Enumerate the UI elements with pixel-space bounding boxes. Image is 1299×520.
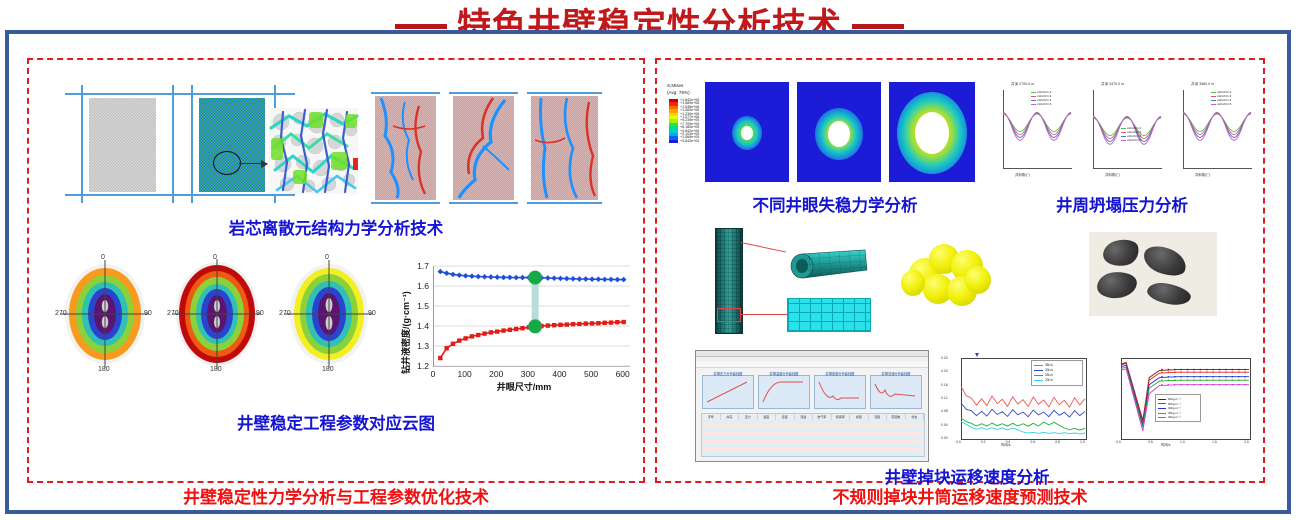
polar-contour-1: 0 90 180 270 [57, 256, 153, 372]
window-menu-bar[interactable] [696, 357, 928, 361]
chart-block-velocity: 60kg·m⁻³50kg·m⁻³40kg·m⁻³30kg·m⁻³20kg·m⁻³… [1097, 350, 1257, 462]
legend-swatch [1158, 408, 1166, 409]
legend-swatch [1031, 92, 1036, 93]
wellbore-contour-large [889, 82, 975, 182]
callout-line-top [741, 242, 786, 253]
caption-wellbore-instability: 不同井眼失稳力学分析 [685, 192, 985, 216]
legend-swatch [1158, 417, 1166, 418]
polar-label-180: 180 [98, 366, 110, 373]
polar-label-0: 0 [325, 254, 329, 261]
legend-entry: 40kg·m⁻³ [1158, 406, 1181, 410]
polar-label-90: 90 [256, 310, 264, 317]
polar-label-270: 270 [55, 310, 67, 317]
polar-label-90: 90 [368, 310, 376, 317]
chart-xtick: 0.0 [1116, 440, 1121, 444]
chart-xtick: 200 [486, 369, 506, 379]
legend-value: +3.842e+03 [680, 140, 699, 143]
legend-entry: σH/σh=1.5 [1031, 102, 1051, 106]
chart-ytick: 1.4 [405, 321, 429, 331]
cylinder-mesh-3d [787, 248, 869, 280]
fracture-photo-3 [527, 90, 602, 206]
microstructure-network [269, 108, 358, 194]
guide-line [65, 93, 189, 95]
fracture-photo-1 [371, 90, 440, 206]
guide-line [65, 194, 189, 196]
circle-highlight-icon [213, 151, 241, 175]
panel-right-caption: 不规则掉块井筒运移速度预测技术 [657, 483, 1263, 508]
collapse-chart-1: 井深 2700.0 m σH/σh=1.2σH/σh=1.3σH/σh=1.4σ… [987, 80, 1075, 186]
polar-label-0: 0 [101, 254, 105, 261]
legend-swatch [1211, 104, 1216, 105]
irregular-cuttings-model [899, 236, 995, 310]
legend-entry: 35L/s [1034, 363, 1053, 367]
abaqus-legend-values: +1.842e+06+1.689e+06+1.536e+06+1.383e+06… [680, 99, 699, 143]
chart-ytick: 0.04 [941, 423, 948, 427]
chart-xtick: 1.5 [1212, 440, 1217, 444]
chart-ytick: 1.5 [405, 301, 429, 311]
chart-xtick: 0.8 [1055, 440, 1060, 444]
legend-swatch [1158, 399, 1166, 400]
chart-xtick: 0 [423, 369, 443, 379]
chart-xtick: 400 [549, 369, 569, 379]
legend-swatch [1158, 413, 1166, 414]
chart-legend: 60kg·m⁻³50kg·m⁻³40kg·m⁻³30kg·m⁻³20kg·m⁻³ [1155, 394, 1201, 422]
chart-xlabel: 井眼尺寸/mm [409, 380, 639, 393]
chart-legend: 35L/s30L/s25L/s20L/s [1031, 360, 1083, 386]
polar-contour-3: 0 90 180 270 [281, 256, 377, 372]
chart-ytick: 0.00 [941, 436, 948, 440]
window-chart-card[interactable]: 井筒压力分布曲线图 [702, 375, 754, 409]
collapse-chart-xlabel: 井斜角/(°) [1105, 172, 1120, 177]
chart-ytick: 0.08 [941, 409, 948, 413]
caption-dem-analysis: 岩芯离散元结构力学分析技术 [29, 215, 643, 239]
guide-line [81, 85, 83, 203]
collapse-chart-legend: σH/σh=1.2σH/σh=1.3σH/σh=1.4σH/σh=1.5 [1211, 90, 1231, 106]
legend-entry: 25L/s [1034, 373, 1053, 377]
legend-entry: 30L/s [1034, 368, 1053, 372]
wellbore-contour-small [705, 82, 789, 182]
title-rule-left [395, 24, 447, 29]
legend-swatch [1121, 140, 1126, 141]
collapse-chart-2: 井深 3470.0 m σH/σh=1.2σH/σh=1.3σH/σh=1.4σ… [1077, 80, 1165, 186]
wellbore-contour-medium [797, 82, 881, 182]
window-chart-caption: 井筒温度分布曲线图 [759, 371, 809, 376]
cylinder-mesh-flat [787, 298, 871, 332]
window-chart-card[interactable]: 井筒温度分布曲线图 [758, 375, 810, 409]
legend-entry: σH/σh=1.5 [1121, 138, 1141, 142]
legend-swatch [1034, 365, 1043, 366]
legend-swatch [1031, 96, 1036, 97]
collapse-chart-title: 井深 2700.0 m [1011, 82, 1034, 87]
legend-swatch [1031, 104, 1036, 105]
polar-label-90: 90 [144, 310, 152, 317]
legend-entry: 50kg·m⁻³ [1158, 402, 1181, 406]
core-sample-dem [199, 98, 265, 192]
caption-collapse-pressure: 井周坍塌压力分析 [987, 192, 1257, 216]
legend-swatch [1031, 100, 1036, 101]
polar-label-180: 180 [322, 366, 334, 373]
chart-plot-area [433, 266, 630, 367]
simulation-software-window[interactable]: 井筒压力分布曲线图井筒温度分布曲线图井筒密度分布曲线图井筒流速分布曲线图 序号井… [695, 350, 929, 462]
chart-ytick: 0.16 [941, 383, 948, 387]
callout-line-bottom [741, 314, 787, 315]
title-rule-right [852, 24, 904, 29]
legend-entry: 30kg·m⁻³ [1158, 411, 1181, 415]
legend-swatch [1121, 136, 1126, 137]
window-data-table[interactable]: 序号井深压力温度密度流速含气率持液率摩阻流型雷诺数状态 [701, 413, 925, 457]
collapse-chart-title: 井深 3470.0 m [1101, 82, 1124, 87]
zoom-region-box [717, 308, 741, 322]
legend-swatch [1211, 92, 1216, 93]
polar-contour-2: 0 90 180 270 [169, 256, 265, 372]
legend-swatch [1121, 128, 1126, 129]
legend-swatch [1034, 370, 1043, 371]
chart-ytick: 1.6 [405, 281, 429, 291]
core-sample-intact [89, 98, 156, 192]
chart-xtick: 1.0 [1080, 440, 1085, 444]
panel-left: 岩芯离散元结构力学分析技术 0 90 180 [27, 58, 645, 483]
chart-xtick: 1.0 [1180, 440, 1185, 444]
chart-ytick: 1.7 [405, 261, 429, 271]
collapse-chart-xlabel: 井斜角/(°) [1015, 172, 1030, 177]
legend-swatch [1121, 132, 1126, 133]
window-chart-caption: 井筒流速分布曲线图 [871, 371, 921, 376]
chart-xtick: 2.0 [1244, 440, 1249, 444]
abaqus-legend-subtitle: (Avg: 75%) [667, 91, 690, 96]
legend-entry: 60kg·m⁻³ [1158, 397, 1181, 401]
chart-ytick: 0.12 [941, 396, 948, 400]
window-chart-caption: 井筒压力分布曲线图 [703, 371, 753, 376]
arrow-right-icon [239, 163, 267, 164]
chart-xtick: 0.4 [1006, 440, 1011, 444]
window-toolbar[interactable] [696, 362, 928, 368]
chart-ytick: 0.24 [941, 356, 948, 360]
chart-xtick: 0.5 [1148, 440, 1153, 444]
polar-label-0: 0 [213, 254, 217, 261]
collapse-chart-title: 井深 3980.0 m [1191, 82, 1214, 87]
collapse-chart-3: 井深 3980.0 m σH/σh=1.2σH/σh=1.3σH/σh=1.4σ… [1167, 80, 1257, 186]
abaqus-legend-title: S,Mises [667, 84, 683, 89]
chart-xtick: 0.6 [1030, 440, 1035, 444]
collapse-chart-legend: σH/σh=1.2σH/σh=1.3σH/σh=1.4σH/σh=1.5 [1031, 90, 1051, 106]
window-chart-card[interactable]: 井筒流速分布曲线图 [870, 375, 922, 409]
chart-ytick: 0.20 [941, 369, 948, 373]
abaqus-legend-swatches [669, 99, 678, 143]
legend-swatch [1034, 380, 1043, 381]
collapse-chart-legend: σH/σh=1.2σH/σh=1.3σH/σh=1.4σH/σh=1.5 [1121, 126, 1141, 142]
legend-entry: 20kg·m⁻³ [1158, 415, 1181, 419]
legend-swatch [1034, 375, 1043, 376]
polar-label-270: 270 [279, 310, 291, 317]
chart-xlabel: 时间/s [1161, 442, 1170, 447]
legend-entry: σH/σh=1.5 [1211, 102, 1231, 106]
collapse-chart-xlabel: 井斜角/(°) [1195, 172, 1210, 177]
legend-entry: 20L/s [1034, 378, 1053, 382]
legend-swatch [1211, 100, 1216, 101]
rock-cuttings-photo [1089, 232, 1217, 316]
chart-xtick: 0.2 [981, 440, 986, 444]
legend-swatch [1158, 403, 1166, 404]
guide-line [191, 85, 193, 203]
chart-xtick: 500 [581, 369, 601, 379]
legend-swatch [669, 140, 678, 143]
polar-label-270: 270 [167, 310, 179, 317]
panel-left-caption: 井壁稳定性力学分析与工程参数优化技术 [29, 483, 643, 508]
chart-ytick: 1.3 [405, 341, 429, 351]
guide-line [177, 93, 295, 95]
table-row[interactable] [702, 452, 924, 456]
legend-swatch [1211, 96, 1216, 97]
polar-label-180: 180 [210, 366, 222, 373]
guide-line [177, 194, 295, 196]
poster-root: 特色井壁稳定性分析技术 [0, 0, 1299, 520]
chart-xtick: 300 [518, 369, 538, 379]
caption-stability-cloud: 井壁稳定工程参数对应云图 [29, 410, 643, 434]
chart-xtick: 600 [613, 369, 633, 379]
window-chart-caption: 井筒密度分布曲线图 [815, 371, 865, 376]
panel-right: S,Mises (Avg: 75%) +1.842e+06+1.689e+06+… [655, 58, 1265, 483]
chart-xtick: 0.0 [956, 440, 961, 444]
chart-density-vs-size: 钻井液密度/(g·cm⁻¹) 1.21.31.41.51.61.7 010020… [389, 256, 639, 396]
chart-transport-velocity: 35L/s30L/s25L/s20L/s 时间/s 0.00.20.40.60.… [939, 350, 1091, 462]
window-chart-card[interactable]: 井筒密度分布曲线图 [814, 375, 866, 409]
chart-xtick: 100 [455, 369, 475, 379]
guide-line [172, 85, 174, 203]
fracture-photo-2 [449, 90, 518, 206]
